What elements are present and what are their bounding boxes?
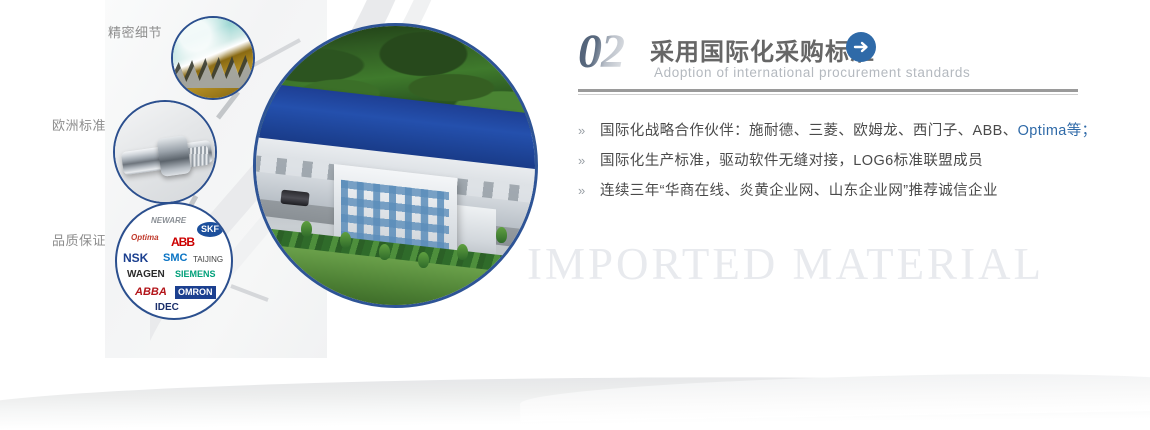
gear-teeth-icon xyxy=(173,52,253,88)
factory-tree xyxy=(496,227,507,243)
feature-list: » 国际化战略合作伙伴：施耐德、三菱、欧姆龙、西门子、ABB、Optima等； … xyxy=(578,116,1078,206)
page-subtitle: Adoption of international procurement st… xyxy=(654,65,970,80)
label-quality-assurance: 品质保证 xyxy=(52,230,106,249)
brand-logo-omron: OMRON xyxy=(175,286,216,299)
section-number: 02 xyxy=(578,28,624,76)
factory-tree xyxy=(340,232,351,248)
brand-logo-taijing: TAIJING xyxy=(193,256,223,264)
brand-logo-idec: IDEC xyxy=(155,303,179,313)
brand-logo-abb: ABB xyxy=(171,236,194,248)
label-precision-detail: 精密细节 xyxy=(108,22,162,41)
brand-logo-collage: NEWARE SKF Optima ABB NSK SMC TAIJING WA… xyxy=(117,204,231,318)
gear-detail-photo xyxy=(171,16,255,100)
brand-logo-siemens: SIEMENS xyxy=(175,270,216,279)
label-european-standard: 欧洲标准 xyxy=(52,115,106,134)
factory-tree xyxy=(379,244,390,260)
list-item: » 连续三年“华商在线、炎黄企业网、山东企业网”推荐诚信企业 xyxy=(578,176,1078,206)
brand-logo-skf: SKF xyxy=(197,222,223,237)
list-item-text: 国际化生产标准，驱动软件无缝对接，LOG6标准联盟成员 xyxy=(600,153,983,169)
brand-logo-neware: NEWARE xyxy=(151,217,186,225)
list-item-label: 国际化生产标准，驱动软件无缝对接，LOG6标准联盟成员 xyxy=(600,146,983,176)
bullet-chevron-icon: » xyxy=(578,146,585,176)
factory-image xyxy=(256,26,535,305)
banner-stage: 精密细节 欧洲标准 品质保证 NEWARE SKF Optima ABB NSK… xyxy=(0,0,1150,430)
factory-parked-car xyxy=(280,189,309,206)
brand-logos: NEWARE SKF Optima ABB NSK SMC TAIJING WA… xyxy=(115,202,233,320)
factory-tree xyxy=(418,252,429,268)
brand-logo-optima: Optima xyxy=(131,234,159,242)
watermark-text: IMPORTED MATERIAL xyxy=(527,238,1044,290)
list-item: » 国际化战略合作伙伴：施耐德、三菱、欧姆龙、西门子、ABB、Optima等； xyxy=(578,116,1078,146)
brand-logo-nsk: NSK xyxy=(123,252,148,264)
list-item-label: 连续三年“华商在线、炎黄企业网、山东企业网”推荐诚信企业 xyxy=(600,176,998,206)
brand-logo-smc: SMC xyxy=(163,253,187,264)
list-item-text: 国际化战略合作伙伴：施耐德、三菱、欧姆龙、西门子、ABB、 xyxy=(600,123,1018,139)
brand-logo-abba: ABBA xyxy=(135,287,167,298)
factory-tree xyxy=(457,244,468,260)
ball-screw-nut xyxy=(157,135,192,177)
bullet-chevron-icon: » xyxy=(578,116,585,146)
list-item: » 国际化生产标准，驱动软件无缝对接，LOG6标准联盟成员 xyxy=(578,146,1078,176)
page-title: 采用国际化采购标准 xyxy=(650,32,875,67)
arrow-right-icon[interactable] xyxy=(846,32,876,62)
divider-thick xyxy=(578,89,1078,92)
list-item-label: 国际化战略合作伙伴：施耐德、三菱、欧姆龙、西门子、ABB、Optima等； xyxy=(600,116,1097,146)
factory-building-photo xyxy=(253,23,538,308)
list-item-highlight: Optima等； xyxy=(1018,123,1097,139)
brand-logo-wagen: WAGEN xyxy=(127,270,165,280)
ball-screw-photo xyxy=(113,100,217,204)
divider-thin xyxy=(578,94,1078,95)
bullet-chevron-icon: » xyxy=(578,176,585,206)
list-item-text: 连续三年“华商在线、炎黄企业网、山东企业网”推荐诚信企业 xyxy=(600,183,998,199)
factory-tree xyxy=(301,221,312,237)
